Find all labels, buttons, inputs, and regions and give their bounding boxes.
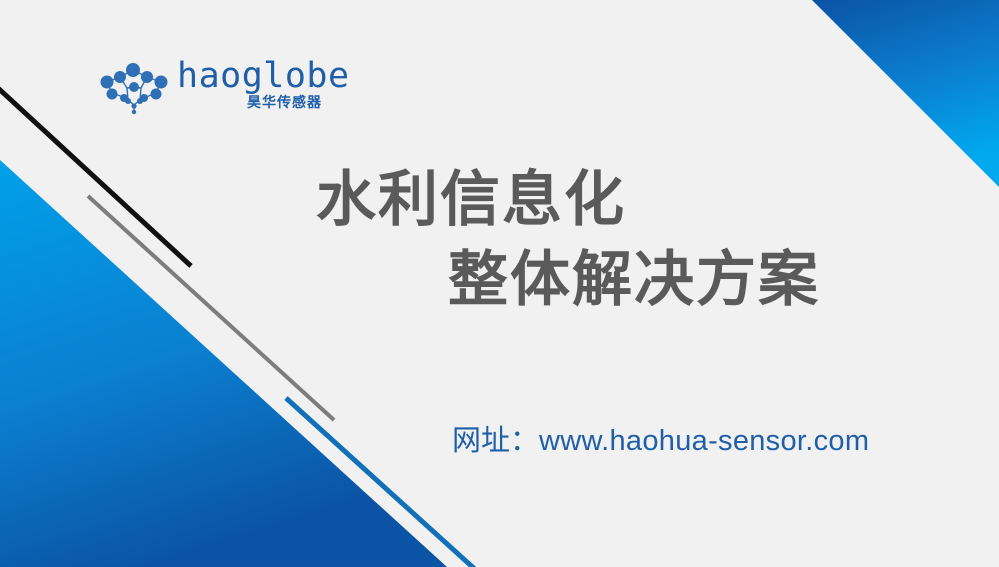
website-url-label: 网址： [452, 423, 539, 457]
logo-sub-brand-text: 昊华传感器 [247, 94, 322, 112]
molecular-network-icon [97, 60, 175, 118]
website-url[interactable]: 网址：www.haohua-sensor.com [452, 418, 869, 463]
logo-brand-text: haoglobe [177, 56, 350, 96]
company-logo[interactable]: haoglobe 昊华传感器 [97, 58, 322, 120]
website-url-value[interactable]: www.haohua-sensor.com [539, 425, 869, 457]
slide-title-line-2: 整体解决方案 [448, 240, 900, 320]
presentation-slide: haoglobe 昊华传感器 水利信息化 整体解决方案 网址：www.haohu… [0, 0, 999, 567]
logo-wordmark: haoglobe 昊华传感器 [177, 58, 322, 120]
slide-title-line-1: 水利信息化 [316, 160, 900, 240]
slide-title-block: 水利信息化 整体解决方案 [300, 160, 900, 320]
